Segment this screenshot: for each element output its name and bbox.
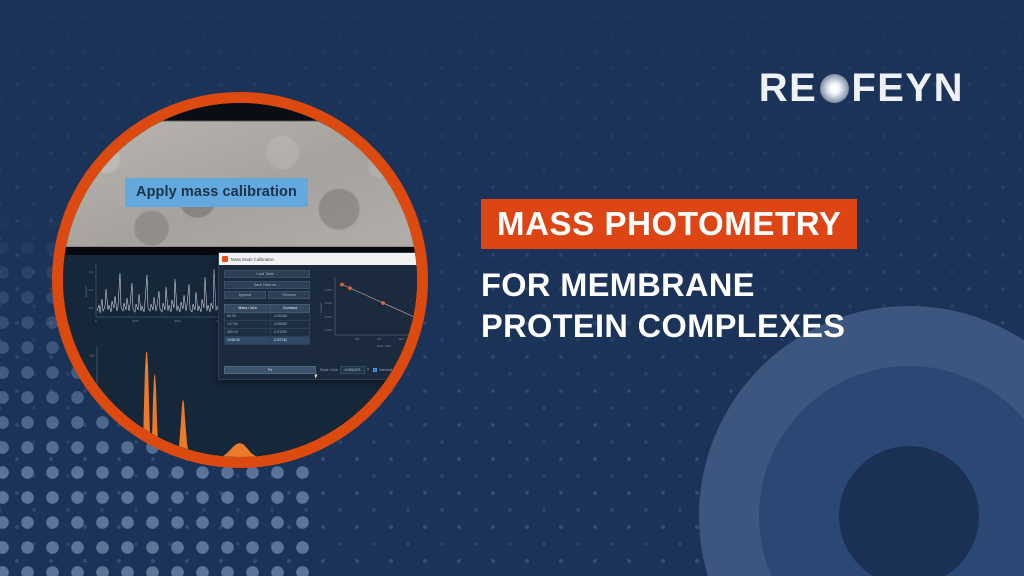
svg-text:-0.005: -0.005 <box>324 288 332 292</box>
sphere-dot-icon <box>820 74 849 103</box>
intercept-value[interactable]: -0.0003029 <box>394 366 417 374</box>
table-row[interactable]: 66.00 -0.00266 <box>225 312 310 320</box>
cell-mass: 147.00 <box>225 320 271 328</box>
headline-banner: MASS PHOTOMETRY <box>481 199 857 249</box>
product-screenshot-circle: Apply mass calibration 01000 20003000 0.… <box>52 92 428 468</box>
svg-text:0.0: 0.0 <box>89 288 94 292</box>
slope-field[interactable]: Slope / kDa -0.0002471 ▲▼ <box>320 366 369 374</box>
fit-button-label: Fit <box>268 368 272 372</box>
app-icon <box>222 256 228 262</box>
svg-text:1000: 1000 <box>132 319 139 323</box>
dialog-body: Load Table ... Save Table As ... Append … <box>219 265 417 379</box>
headline-line-1: FOR MEMBRANE <box>481 265 857 306</box>
cell-contrast: -0.00266 <box>271 312 310 320</box>
svg-text:20: 20 <box>90 424 94 428</box>
dialog-title-text: Mass Mode Calibration <box>231 257 274 262</box>
slope-label: Slope / kDa <box>320 368 338 372</box>
table-row-selected[interactable]: 1048.00 -0.02742 <box>225 336 310 344</box>
intercept-label: Intercept <box>379 368 392 372</box>
append-remove-row: Append Remove <box>224 291 310 302</box>
mouse-cursor-icon <box>315 373 321 378</box>
svg-text:Contrast: Contrast <box>85 286 88 297</box>
dialog-title-bar[interactable]: Mass Mode Calibration × <box>219 253 417 265</box>
dialog-left-column: Load Table ... Save Table As ... Append … <box>224 270 310 345</box>
column-header-contrast: Contrast <box>271 304 310 312</box>
svg-text:100: 100 <box>89 354 95 358</box>
append-button[interactable]: Append <box>224 291 266 299</box>
table-header-row: Mass / kDa Contrast <box>225 304 310 312</box>
svg-text:-0.020: -0.020 <box>324 315 332 319</box>
fit-button[interactable]: Fit <box>224 366 316 374</box>
cell-mass: 1048.00 <box>225 336 271 344</box>
intercept-field[interactable]: Intercept -0.0003029 ▲▼ <box>373 366 417 374</box>
calibration-table[interactable]: Mass / kDa Contrast 66.00 -0.00266 <box>224 304 310 345</box>
headline-line-2: PROTEIN COMPLEXES <box>481 306 857 347</box>
svg-text:-0.015: -0.015 <box>324 301 332 305</box>
logo-text-left: RE <box>759 66 818 111</box>
headline-block: MASS PHOTOMETRY FOR MEMBRANE PROTEIN COM… <box>481 199 857 347</box>
remove-button[interactable]: Remove <box>268 291 310 299</box>
svg-text:2000: 2000 <box>174 319 181 323</box>
svg-text:400: 400 <box>377 337 382 341</box>
svg-text:-0.1: -0.1 <box>88 306 94 310</box>
svg-text:-0.025: -0.025 <box>324 328 332 332</box>
svg-text:0: 0 <box>95 319 97 323</box>
analysis-app-panel: 01000 20003000 0.10.0-0.1 Contrast 0200 … <box>63 255 417 457</box>
load-table-button[interactable]: Load Table ... <box>224 270 310 278</box>
svg-text:200: 200 <box>355 337 360 341</box>
fit-controls-bar: Fit Slope / kDa -0.0002471 ▲▼ Intercept … <box>224 366 417 374</box>
cell-contrast: -0.01290 <box>271 328 310 336</box>
svg-text:Counts: Counts <box>82 403 86 413</box>
calibration-plot-svg: 200400 600800 1000 -0.005-0.015 -0.020-0… <box>319 273 417 353</box>
logo-text-right: FEYN <box>851 66 964 111</box>
svg-text:Mass / kDa: Mass / kDa <box>377 344 391 348</box>
svg-text:600: 600 <box>399 337 404 341</box>
intercept-checkbox[interactable] <box>373 368 377 372</box>
svg-text:Contrast: Contrast <box>319 303 323 313</box>
column-header-mass: Mass / kDa <box>225 304 271 312</box>
svg-text:60: 60 <box>90 388 94 392</box>
app-screenshot: Apply mass calibration 01000 20003000 0.… <box>63 103 417 457</box>
svg-text:0.1: 0.1 <box>89 270 94 274</box>
refeyn-logo: RE FEYN <box>759 66 964 111</box>
save-table-as-button[interactable]: Save Table As ... <box>224 281 310 289</box>
table-row[interactable]: 480.00 -0.01290 <box>225 328 310 336</box>
cell-contrast: -0.00580 <box>271 320 310 328</box>
cell-contrast: -0.02742 <box>271 336 310 344</box>
slope-value[interactable]: -0.0002471 <box>340 366 365 374</box>
blurred-overlay-text <box>113 155 119 170</box>
cell-mass: 480.00 <box>225 328 271 336</box>
slope-stepper-icon[interactable]: ▲▼ <box>367 368 370 373</box>
cell-mass: 66.00 <box>225 312 271 320</box>
apply-mass-calibration-button[interactable]: Apply mass calibration <box>125 178 308 207</box>
calibration-scatter-plot: 200400 600800 1000 -0.005-0.015 -0.020-0… <box>319 273 417 353</box>
ring-inner <box>839 446 979 576</box>
table-row[interactable]: 147.00 -0.00580 <box>225 320 310 328</box>
mass-mode-calibration-dialog[interactable]: Mass Mode Calibration × Load Table ... S… <box>218 252 417 380</box>
